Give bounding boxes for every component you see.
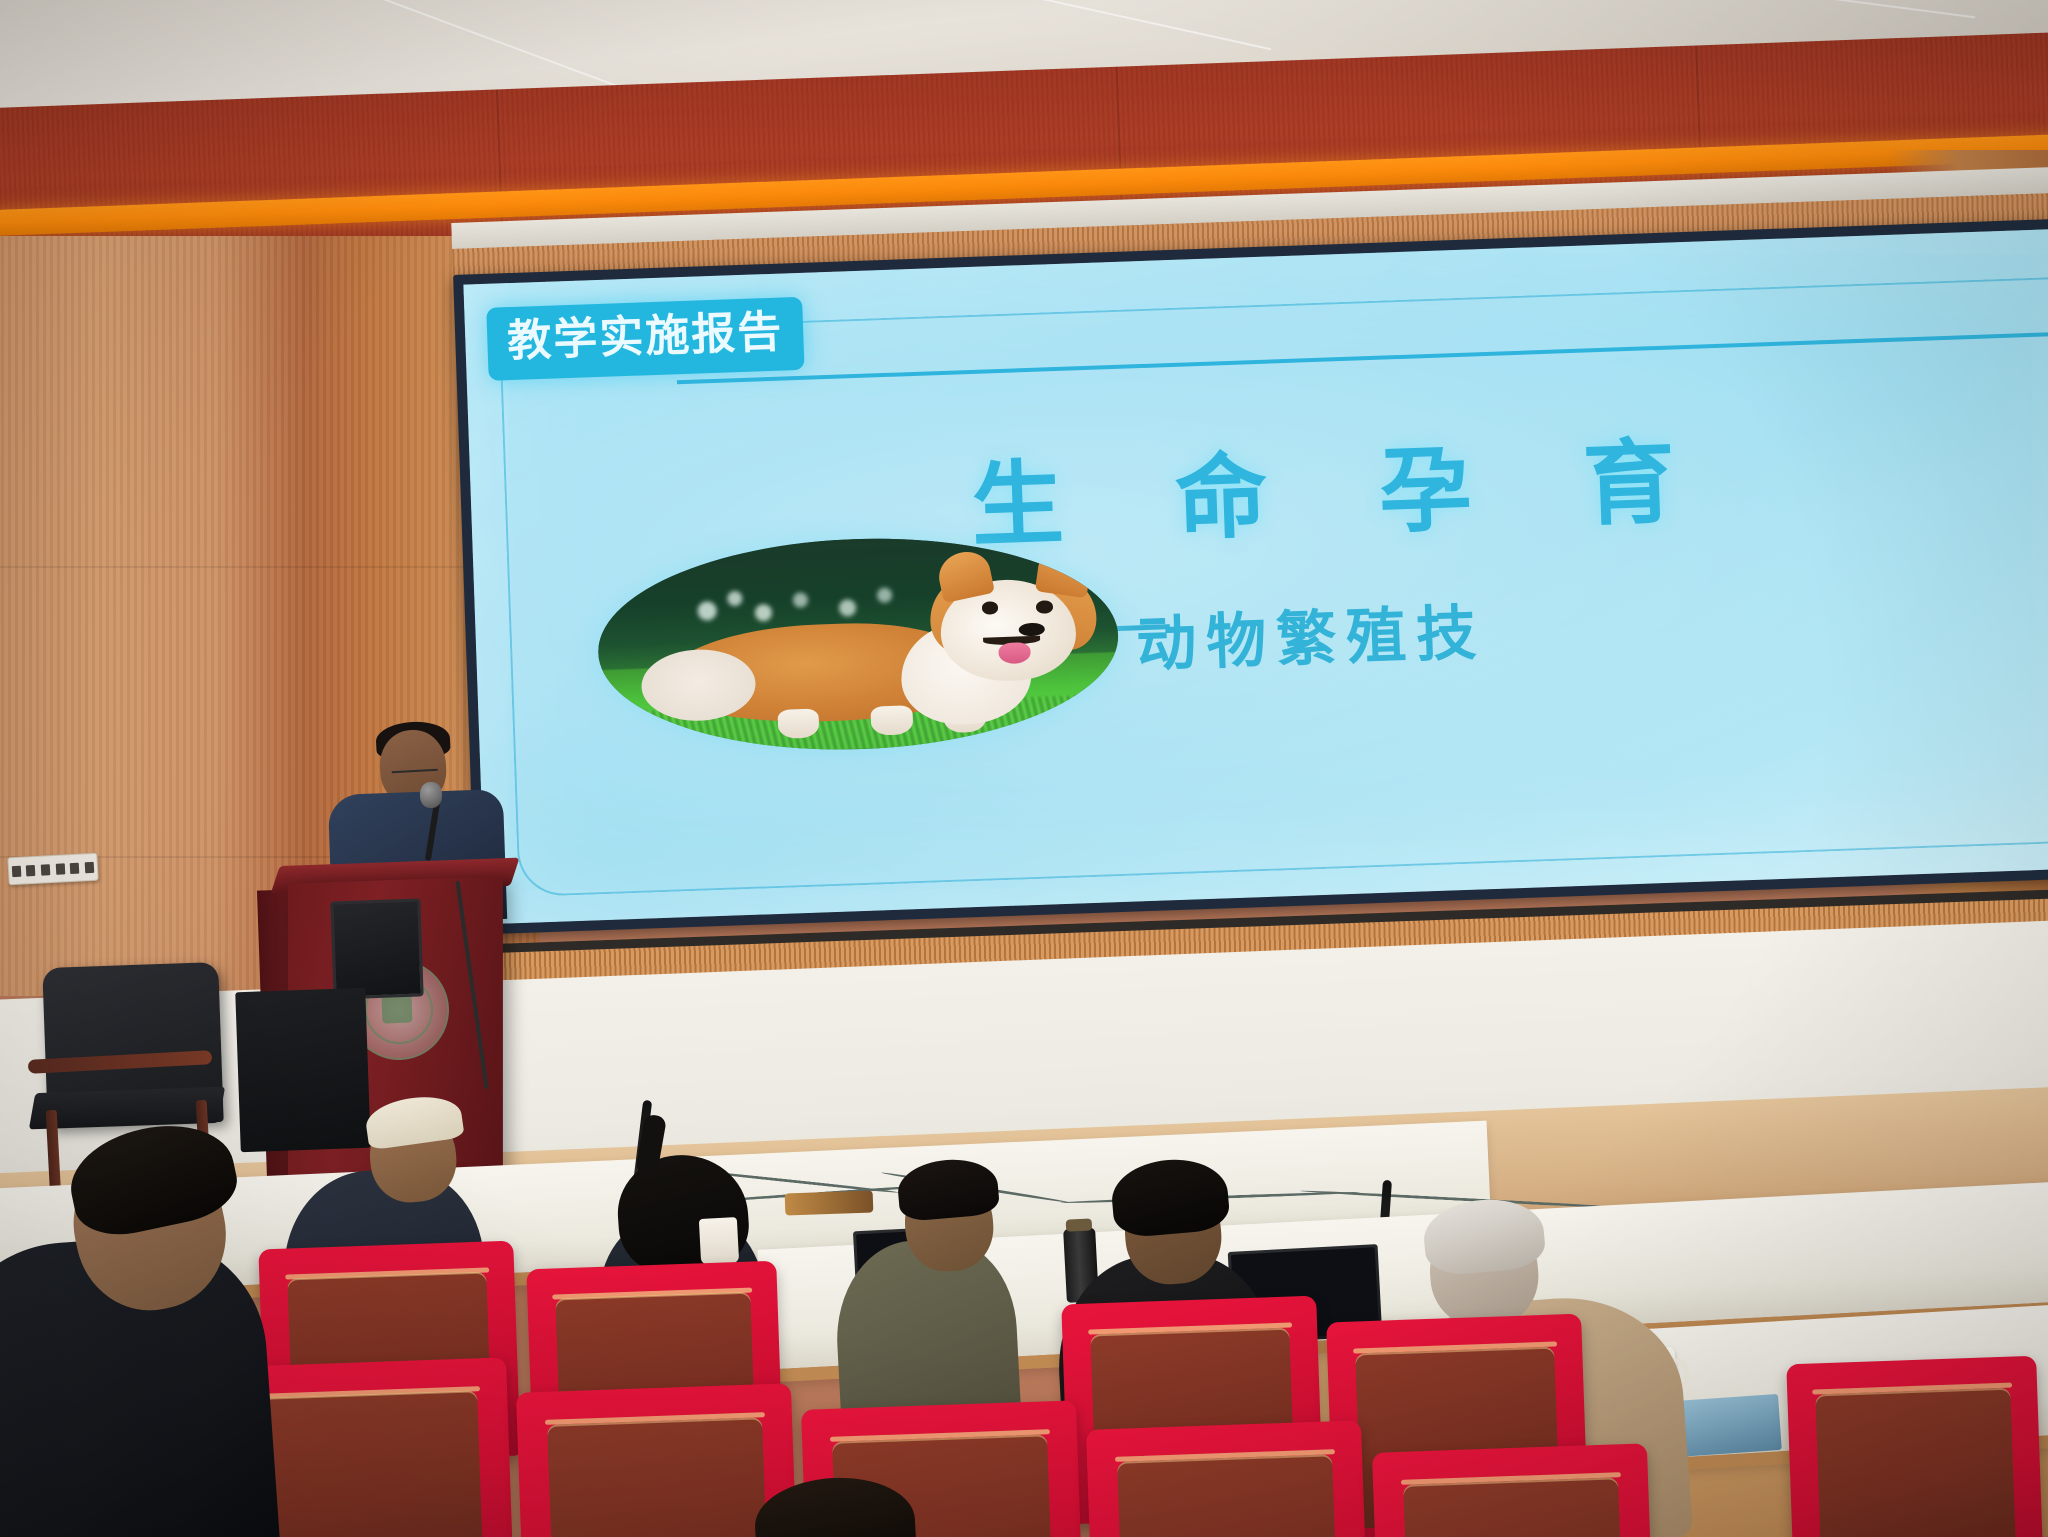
paper-cup bbox=[699, 1217, 739, 1265]
projection-screen-housing: 教学实施报告 生 命 孕 育 动物繁殖技 bbox=[452, 188, 2048, 1045]
projected-slide: 教学实施报告 生 命 孕 育 动物繁殖技 bbox=[463, 228, 2048, 924]
corgi-photo bbox=[595, 530, 1122, 758]
auditorium-seat[interactable] bbox=[1786, 1356, 2044, 1537]
wall-socket-strip[interactable] bbox=[7, 853, 98, 886]
screen-bezel: 教学实施报告 生 命 孕 育 动物繁殖技 bbox=[453, 218, 2048, 935]
cable-junction-box bbox=[785, 1190, 874, 1215]
auditorium-seat[interactable] bbox=[1372, 1443, 1655, 1537]
auditorium-seat[interactable] bbox=[1086, 1420, 1369, 1537]
av-equipment-cabinet bbox=[235, 988, 371, 1152]
podium-mic-head bbox=[420, 782, 442, 808]
slide-subtitle: 动物繁殖技 bbox=[1135, 584, 1488, 683]
slide-badge: 教学实施报告 bbox=[486, 297, 804, 381]
av-monitor bbox=[330, 898, 423, 999]
lecture-hall-photo: 教学实施报告 生 命 孕 育 动物繁殖技 bbox=[0, 0, 2048, 1537]
